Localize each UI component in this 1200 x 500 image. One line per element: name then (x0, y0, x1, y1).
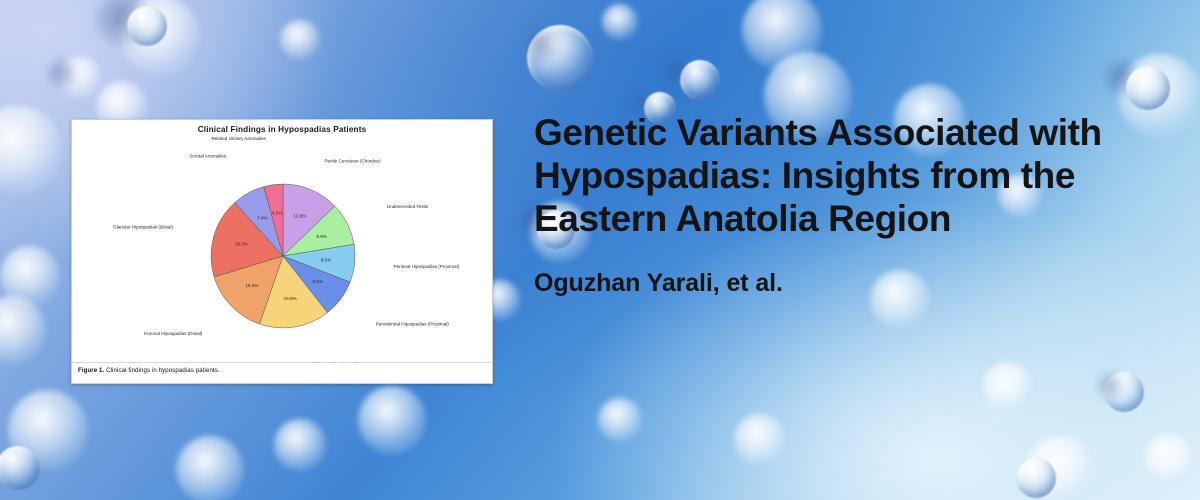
bokeh-droplet (742, 0, 822, 70)
figure-caption: Figure 1. Clinical findings in hypospadi… (72, 363, 492, 374)
pie-chart-plot-area: Clinical Findings in Hypospadias Patient… (72, 120, 492, 363)
pie-slice-percent: 8.5% (321, 258, 331, 263)
pie-slice-percent: 15.9% (284, 296, 297, 301)
bokeh-droplet (602, 4, 638, 40)
pie-category-label: Related Urinary Anomalies (211, 136, 266, 141)
figure-caption-text: Clinical findings in hypospadias patient… (104, 367, 219, 374)
pie-slice-percent: 7.4% (257, 215, 267, 220)
figure-card: Clinical Findings in Hypospadias Patient… (71, 119, 493, 384)
pie-category-label: Scrotal Anomalies (189, 153, 226, 158)
pie-chart-svg: 12.8%9.6%8.5%8.5%15.9%15.0%18.0%7.4%4.3%… (72, 120, 494, 363)
bokeh-droplet (48, 60, 76, 88)
pie-slice-percent: 18.0% (235, 242, 248, 247)
bokeh-droplet (598, 398, 642, 442)
bokeh-droplet (630, 94, 650, 114)
pie-category-label: Penil Hipospadias (Distal) (304, 362, 357, 363)
pie-chart: 12.8%9.6%8.5%8.5%15.9%15.0%18.0%7.4%4.3%… (72, 120, 492, 362)
bokeh-droplet (734, 414, 786, 466)
bokeh-droplet (274, 419, 326, 471)
bokeh-droplet (0, 246, 60, 306)
pie-category-label: Undescended Testis (387, 204, 429, 209)
bokeh-droplet (127, 6, 167, 46)
bokeh-droplet (120, 0, 200, 76)
bokeh-droplet (1144, 434, 1196, 486)
bokeh-droplet (0, 106, 62, 194)
pie-slice-percent: 9.6% (316, 234, 326, 239)
pie-category-label: Koronal Hipospadias (Distal) (144, 331, 203, 336)
bokeh-droplet (1026, 436, 1094, 500)
bokeh-droplet (680, 60, 720, 100)
pie-category-label: Penile Curvature (Chordee) (324, 158, 381, 163)
bokeh-droplet (8, 390, 88, 470)
bokeh-droplet (0, 296, 46, 364)
pie-category-label: Perineal Hipospadias (Proximal) (394, 264, 460, 269)
bokeh-droplet (96, 0, 148, 46)
banner-graphic: Clinical Findings in Hypospadias Patient… (0, 0, 1200, 500)
pie-slice-percent: 15.0% (245, 283, 258, 288)
bokeh-droplet (58, 56, 102, 100)
bokeh-droplet (1126, 66, 1170, 110)
bokeh-droplet (664, 60, 688, 84)
figure-caption-number: Figure 1. (78, 367, 104, 374)
bokeh-droplet (527, 25, 593, 91)
bokeh-droplet (176, 436, 244, 500)
pie-slice-percent: 8.5% (312, 279, 322, 284)
pie-category-label: Penoskrotal Hipospadias (Proximal) (376, 322, 449, 327)
pie-slice-percent: 4.3% (272, 210, 282, 215)
headline-block: Genetic Variants Associated with Hypospa… (534, 112, 1154, 298)
pie-category-label: Glanular Hipospadias (Distal) (113, 224, 173, 229)
bokeh-droplet (280, 20, 320, 60)
bokeh-droplet (982, 362, 1034, 414)
bokeh-droplet (1098, 374, 1122, 398)
paper-title: Genetic Variants Associated with Hypospa… (534, 112, 1154, 241)
paper-authors: Oguzhan Yarali, et al. (534, 269, 1154, 298)
bokeh-droplet (0, 446, 40, 490)
bokeh-droplet (1104, 372, 1144, 412)
bokeh-droplet (1104, 60, 1140, 96)
bokeh-droplet (358, 386, 426, 454)
pie-slice-percent: 12.8% (293, 213, 306, 218)
bokeh-droplet (1016, 458, 1056, 498)
bokeh-droplet (526, 30, 558, 62)
